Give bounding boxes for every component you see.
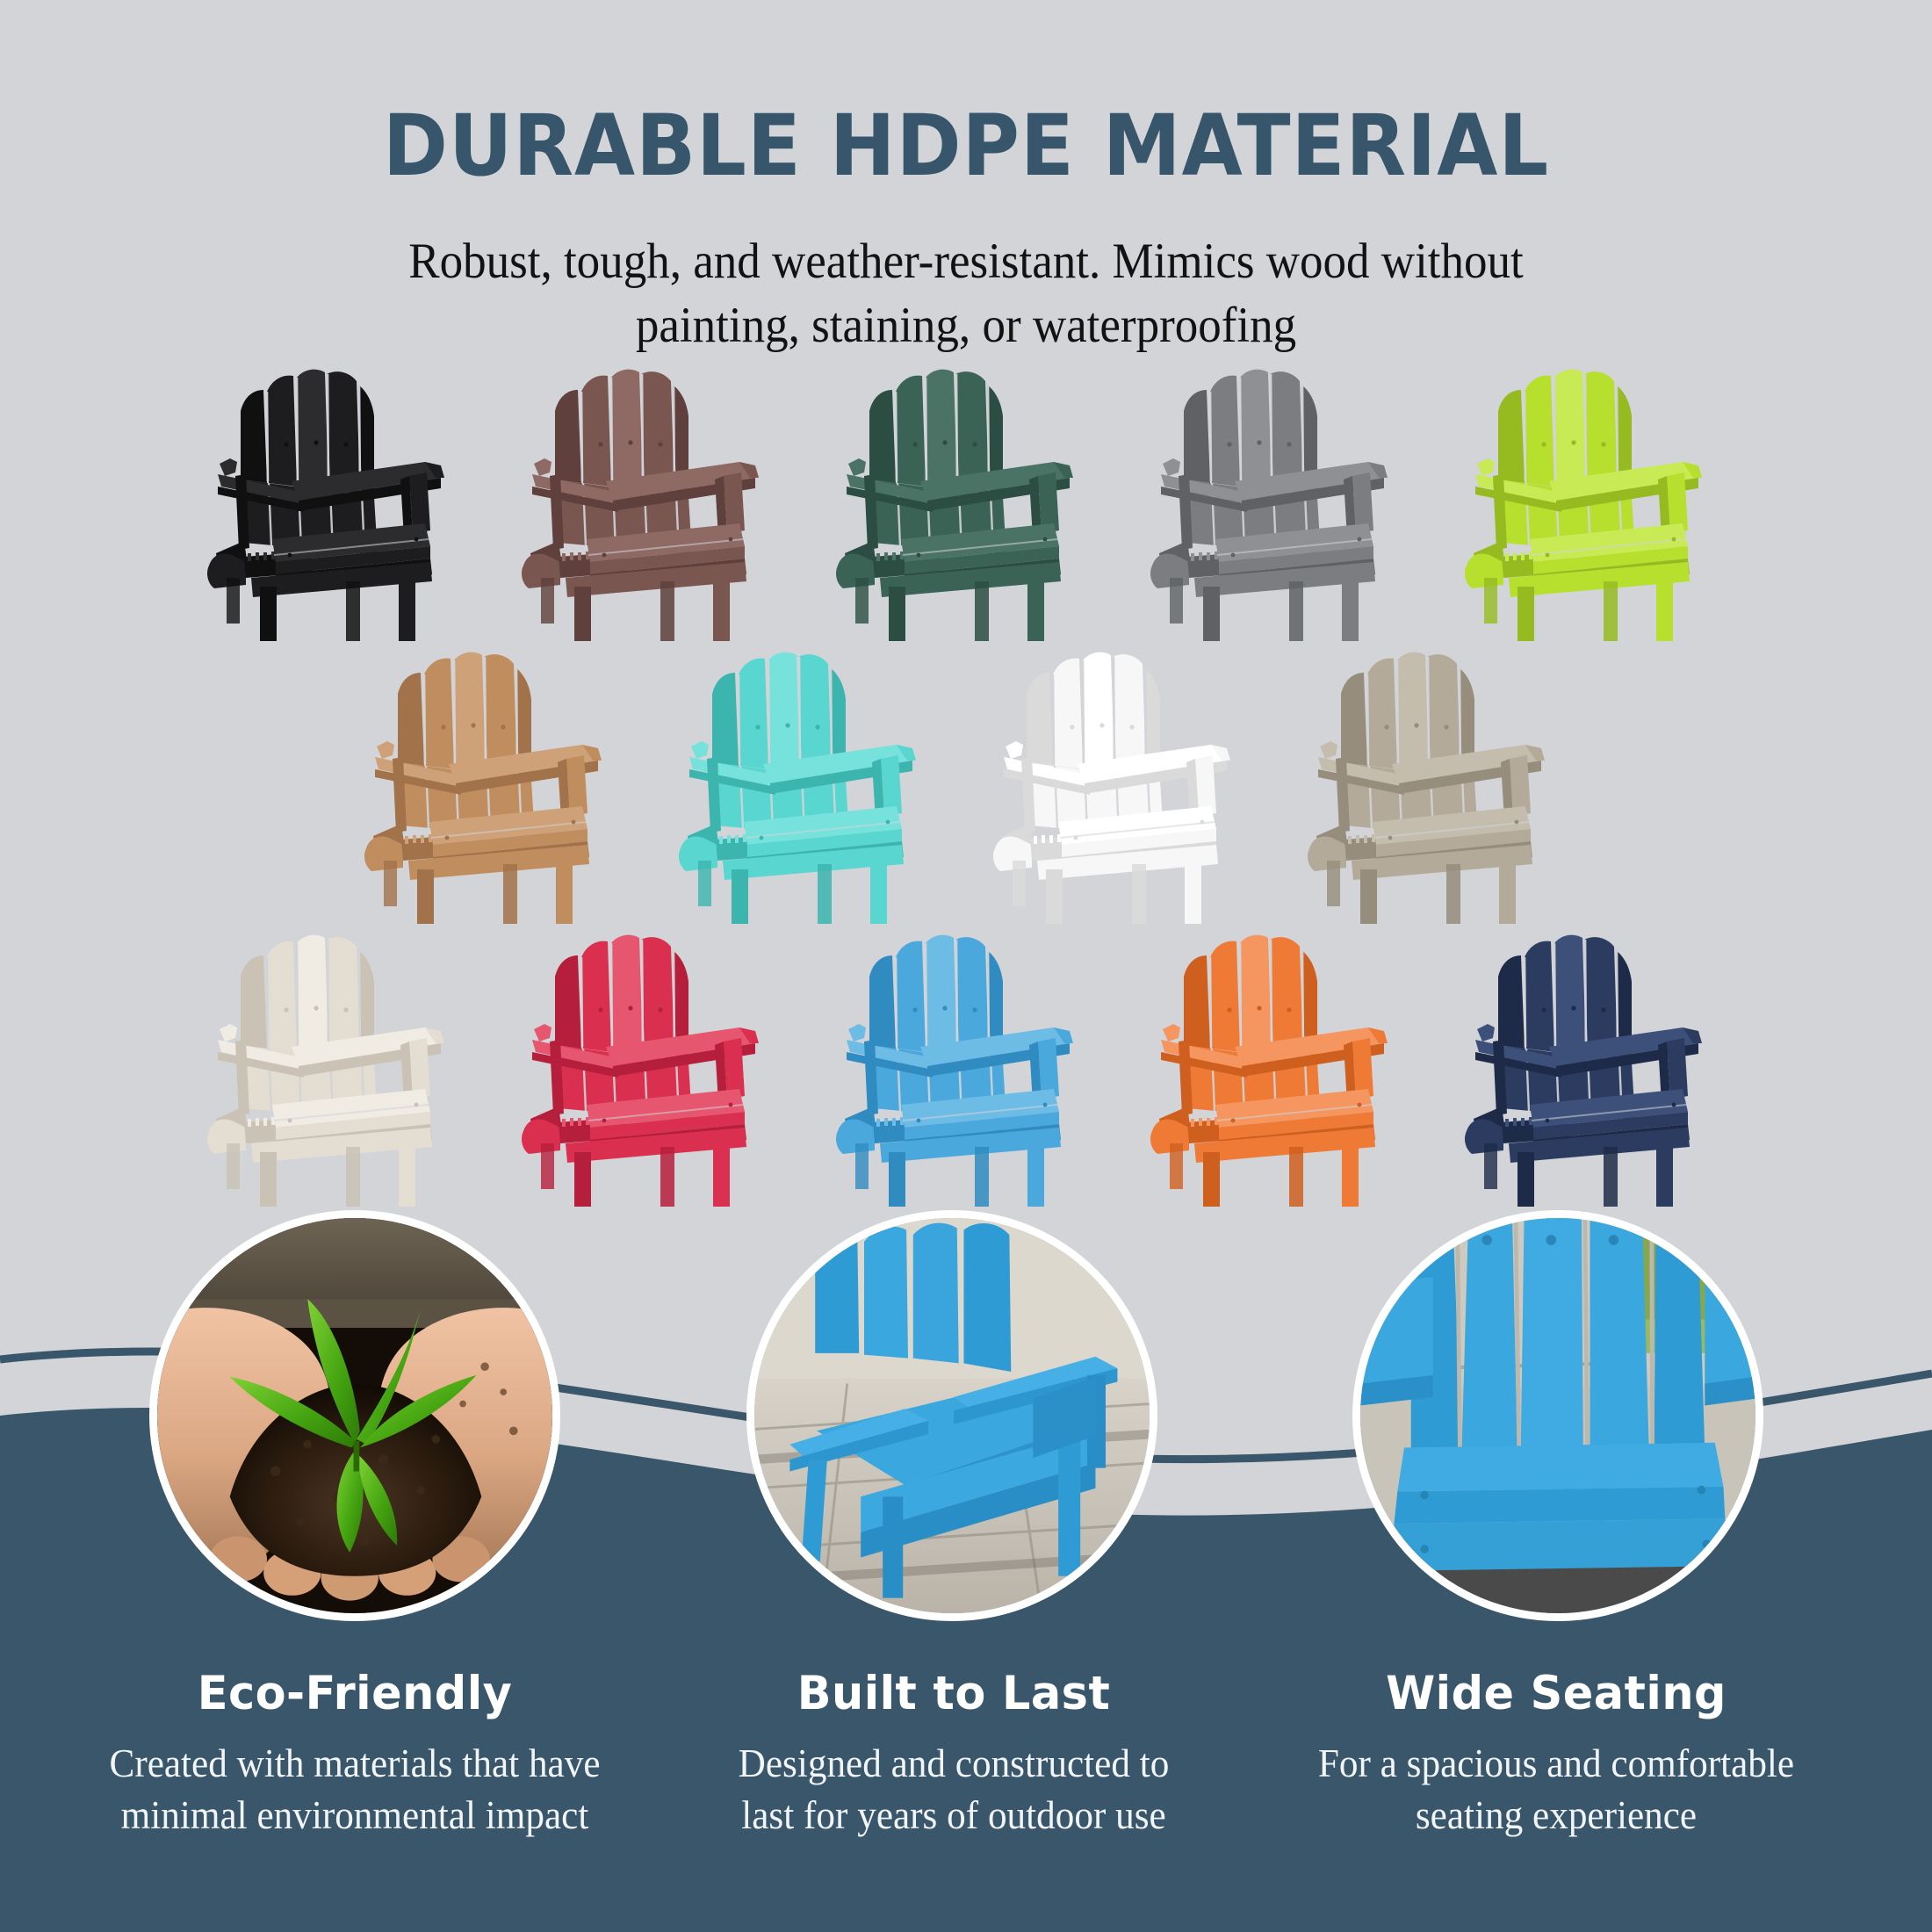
feature-desc-line-1: Created with materials that have xyxy=(85,1738,624,1790)
chair-row-1 xyxy=(0,367,1932,641)
chair-cedar[interactable] xyxy=(363,650,626,924)
seedling-in-hands-icon xyxy=(157,1218,552,1613)
chair-graphic xyxy=(363,650,626,924)
blue-chair-seat-closeup-icon xyxy=(1360,1218,1755,1613)
chair-graphic xyxy=(1306,650,1569,924)
chair-graphic xyxy=(1149,933,1412,1207)
chair-row-2 xyxy=(0,650,1932,924)
chair-brown[interactable] xyxy=(520,367,783,641)
chair-black[interactable] xyxy=(205,367,469,641)
page-title: DURABLE HDPE MATERIAL xyxy=(68,104,1864,188)
feature-block-built-to-last: Built to Last Designed and constructed t… xyxy=(673,1667,1235,1842)
subtitle-line-2: painting, staining, or waterproofing xyxy=(68,294,1864,358)
chair-graphic xyxy=(1149,367,1412,641)
feature-desc-line-2: seating experience xyxy=(1287,1790,1826,1842)
chair-lime-green[interactable] xyxy=(1463,367,1727,641)
chair-graphic xyxy=(1463,933,1727,1207)
chair-navy[interactable] xyxy=(1463,933,1727,1207)
chair-blue[interactable] xyxy=(834,933,1098,1207)
chair-gray[interactable] xyxy=(1149,367,1412,641)
feature-description: Created with materials that have minimal… xyxy=(85,1738,624,1842)
subtitle-line-1: Robust, tough, and weather-resistant. Mi… xyxy=(68,230,1864,294)
feature-title: Built to Last xyxy=(684,1667,1223,1720)
chair-taupe[interactable] xyxy=(1306,650,1569,924)
chair-graphic xyxy=(677,650,941,924)
feature-desc-line-2: minimal environmental impact xyxy=(85,1790,624,1842)
chair-ivory[interactable] xyxy=(205,933,469,1207)
feature-image-built-to-last xyxy=(746,1210,1157,1621)
feature-image-eco-friendly xyxy=(149,1210,560,1621)
chair-graphic xyxy=(205,367,469,641)
page-subtitle: Robust, tough, and weather-resistant. Mi… xyxy=(68,230,1864,358)
chair-row-3 xyxy=(0,933,1932,1207)
chair-graphic xyxy=(834,933,1098,1207)
feature-block-eco-friendly: Eco-Friendly Created with materials that… xyxy=(74,1667,636,1842)
chair-dark-green[interactable] xyxy=(834,367,1098,641)
chair-turquoise[interactable] xyxy=(677,650,941,924)
feature-desc-line-1: For a spacious and comfortable xyxy=(1287,1738,1826,1790)
feature-title: Eco-Friendly xyxy=(85,1667,624,1720)
feature-desc-line-2: last for years of outdoor use xyxy=(684,1790,1223,1842)
chair-graphic xyxy=(520,367,783,641)
chair-graphic xyxy=(991,650,1255,924)
chair-red[interactable] xyxy=(520,933,783,1207)
chair-graphic xyxy=(834,367,1098,641)
chair-orange[interactable] xyxy=(1149,933,1412,1207)
feature-image-wide-seating xyxy=(1352,1210,1763,1621)
feature-block-wide-seating: Wide Seating For a spacious and comforta… xyxy=(1275,1667,1837,1842)
feature-description: For a spacious and comfortable seating e… xyxy=(1287,1738,1826,1842)
chair-graphic xyxy=(205,933,469,1207)
blue-chair-on-patio-icon xyxy=(754,1218,1150,1613)
feature-desc-line-1: Designed and constructed to xyxy=(684,1738,1223,1790)
feature-title: Wide Seating xyxy=(1287,1667,1826,1720)
chair-graphic xyxy=(520,933,783,1207)
chair-white[interactable] xyxy=(991,650,1255,924)
chair-graphic xyxy=(1463,367,1727,641)
feature-description: Designed and constructed to last for yea… xyxy=(684,1738,1223,1842)
